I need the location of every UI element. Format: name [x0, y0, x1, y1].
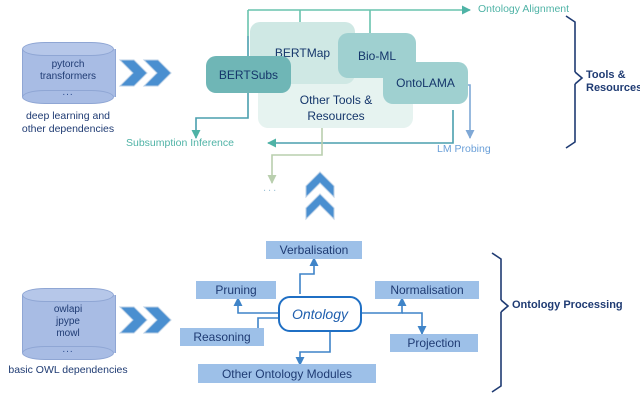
module-pruning[interactable]: Pruning [196, 281, 276, 299]
middle-ellipsis: ... [263, 182, 278, 194]
tools-group-line-2: Resources [586, 82, 638, 95]
double-chevron-up-icon [304, 170, 338, 225]
module-projection-label: Projection [407, 336, 460, 350]
tool-ontolama-label: OntoLAMA [396, 76, 455, 90]
other-tools-line-1: Other Tools & [262, 92, 410, 108]
module-other-ontology-modules[interactable]: Other Ontology Modules [198, 364, 376, 383]
module-normalisation-label: Normalisation [390, 283, 463, 297]
cylinder-top [22, 42, 114, 56]
label-lm-probing: LM Probing [437, 143, 491, 155]
module-verbalisation[interactable]: Verbalisation [266, 241, 362, 259]
tools-group-line-1: Tools & [586, 69, 638, 82]
label-ontology-alignment: Ontology Alignment [478, 3, 569, 15]
dependency-list: pytorch transformers ... [22, 58, 114, 100]
tool-other-tools-resources-label: Other Tools & Resources [262, 92, 410, 124]
caption-line-1: deep learning and [8, 110, 128, 123]
deep-learning-caption: deep learning and other dependencies [8, 110, 128, 135]
module-other-label: Other Ontology Modules [222, 367, 352, 381]
double-chevron-right-icon-bottom [118, 305, 174, 337]
ontology-group-line-1: Ontology Processing [512, 299, 636, 312]
tool-bertsubs[interactable]: BERTSubs [206, 56, 291, 93]
tool-bertsubs-label: BERTSubs [219, 68, 278, 82]
module-reasoning-label: Reasoning [193, 330, 250, 344]
diagram-canvas: pytorch transformers ... deep learning a… [0, 0, 640, 406]
dependency-ellipsis: ... [62, 87, 73, 99]
module-verbalisation-label: Verbalisation [280, 243, 349, 257]
dependency-mowl: mowl [56, 328, 79, 340]
cylinder-top-2 [22, 288, 114, 302]
group-label-tools-resources: Tools & Resources [586, 69, 638, 95]
module-projection[interactable]: Projection [390, 334, 478, 352]
dependency-owlapi: owlapi [54, 304, 82, 316]
ontology-center-node[interactable]: Ontology [278, 296, 362, 332]
group-label-ontology-processing: Ontology Processing [512, 299, 636, 312]
module-reasoning[interactable]: Reasoning [180, 328, 264, 346]
owl-dependency-ellipsis: ... [62, 344, 73, 356]
dependency-pytorch: pytorch [52, 59, 85, 71]
ontology-center-label: Ontology [292, 306, 348, 322]
other-tools-line-2: Resources [262, 108, 410, 124]
deep-learning-dependency-store: pytorch transformers ... [22, 42, 114, 104]
owl-dependency-store: owlapi jpype mowl ... [22, 288, 114, 360]
caption-line-2: other dependencies [8, 123, 128, 136]
owl-caption-line-1: basic OWL dependencies [0, 364, 136, 377]
dependency-transformers: transformers [40, 71, 96, 83]
double-chevron-right-icon-top [118, 58, 174, 90]
label-subsumption-inference: Subsumption Inference [126, 137, 234, 149]
module-pruning-label: Pruning [215, 283, 256, 297]
dependency-jpype: jpype [56, 316, 80, 328]
module-normalisation[interactable]: Normalisation [375, 281, 479, 299]
owl-dependency-list: owlapi jpype mowl ... [22, 304, 114, 356]
tool-bioml-label: Bio-ML [358, 49, 396, 63]
owl-caption: basic OWL dependencies [0, 364, 136, 377]
